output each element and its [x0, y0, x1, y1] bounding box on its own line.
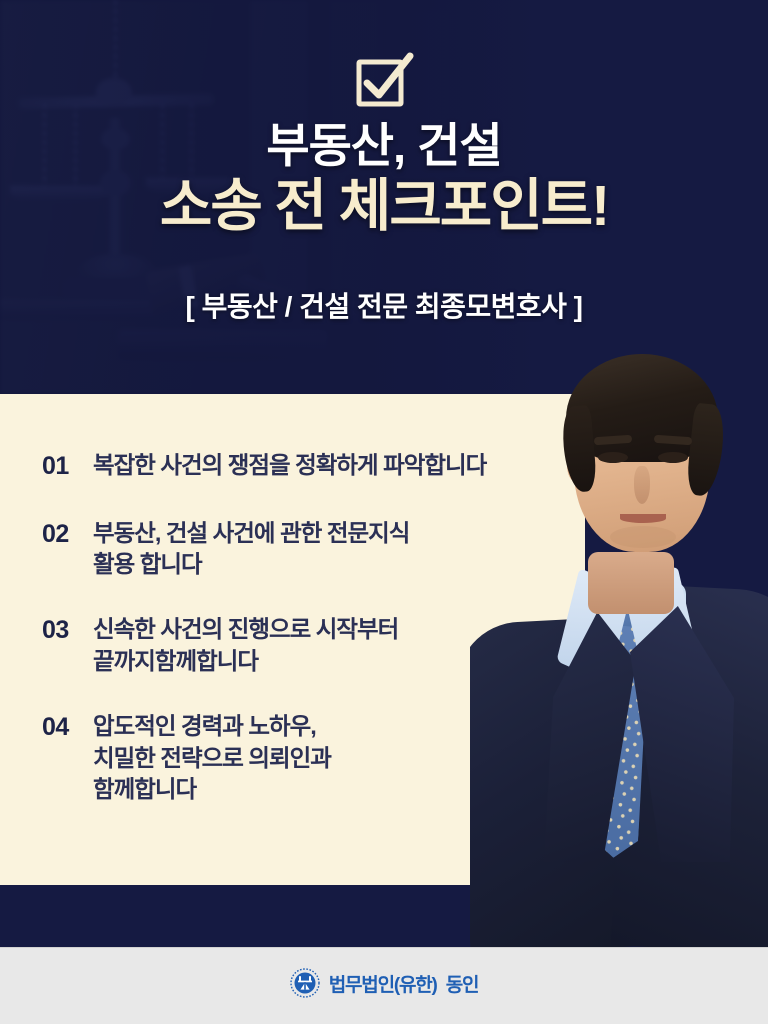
poster: 부동산, 건설 소송 전 체크포인트! [ 부동산 / 건설 전문 최종모변호사… — [0, 0, 768, 1024]
footer-firm-name: 동인 — [446, 970, 479, 997]
checkbox-checked-icon — [353, 52, 415, 108]
page-title: 부동산, 건설 소송 전 체크포인트! — [0, 122, 768, 235]
list-item-number: 04 — [42, 711, 93, 745]
lawyer-portrait — [470, 320, 768, 947]
dongin-seal-logo-icon — [290, 968, 320, 998]
footer-brand[interactable]: 법무법인(유한) 동인 — [0, 968, 768, 998]
list-item-number: 03 — [42, 614, 93, 648]
footer: 법무법인(유한) 동인 — [0, 947, 768, 1024]
title-line-2: 소송 전 체크포인트! — [0, 178, 768, 235]
footer-firm-prefix: 법무법인(유한) — [329, 970, 437, 997]
list-item-number: 02 — [42, 518, 93, 552]
title-line-1: 부동산, 건설 — [0, 122, 768, 169]
hero-subtitle: [ 부동산 / 건설 전문 최종모변호사 ] — [0, 285, 768, 325]
list-item-number: 01 — [42, 450, 93, 484]
